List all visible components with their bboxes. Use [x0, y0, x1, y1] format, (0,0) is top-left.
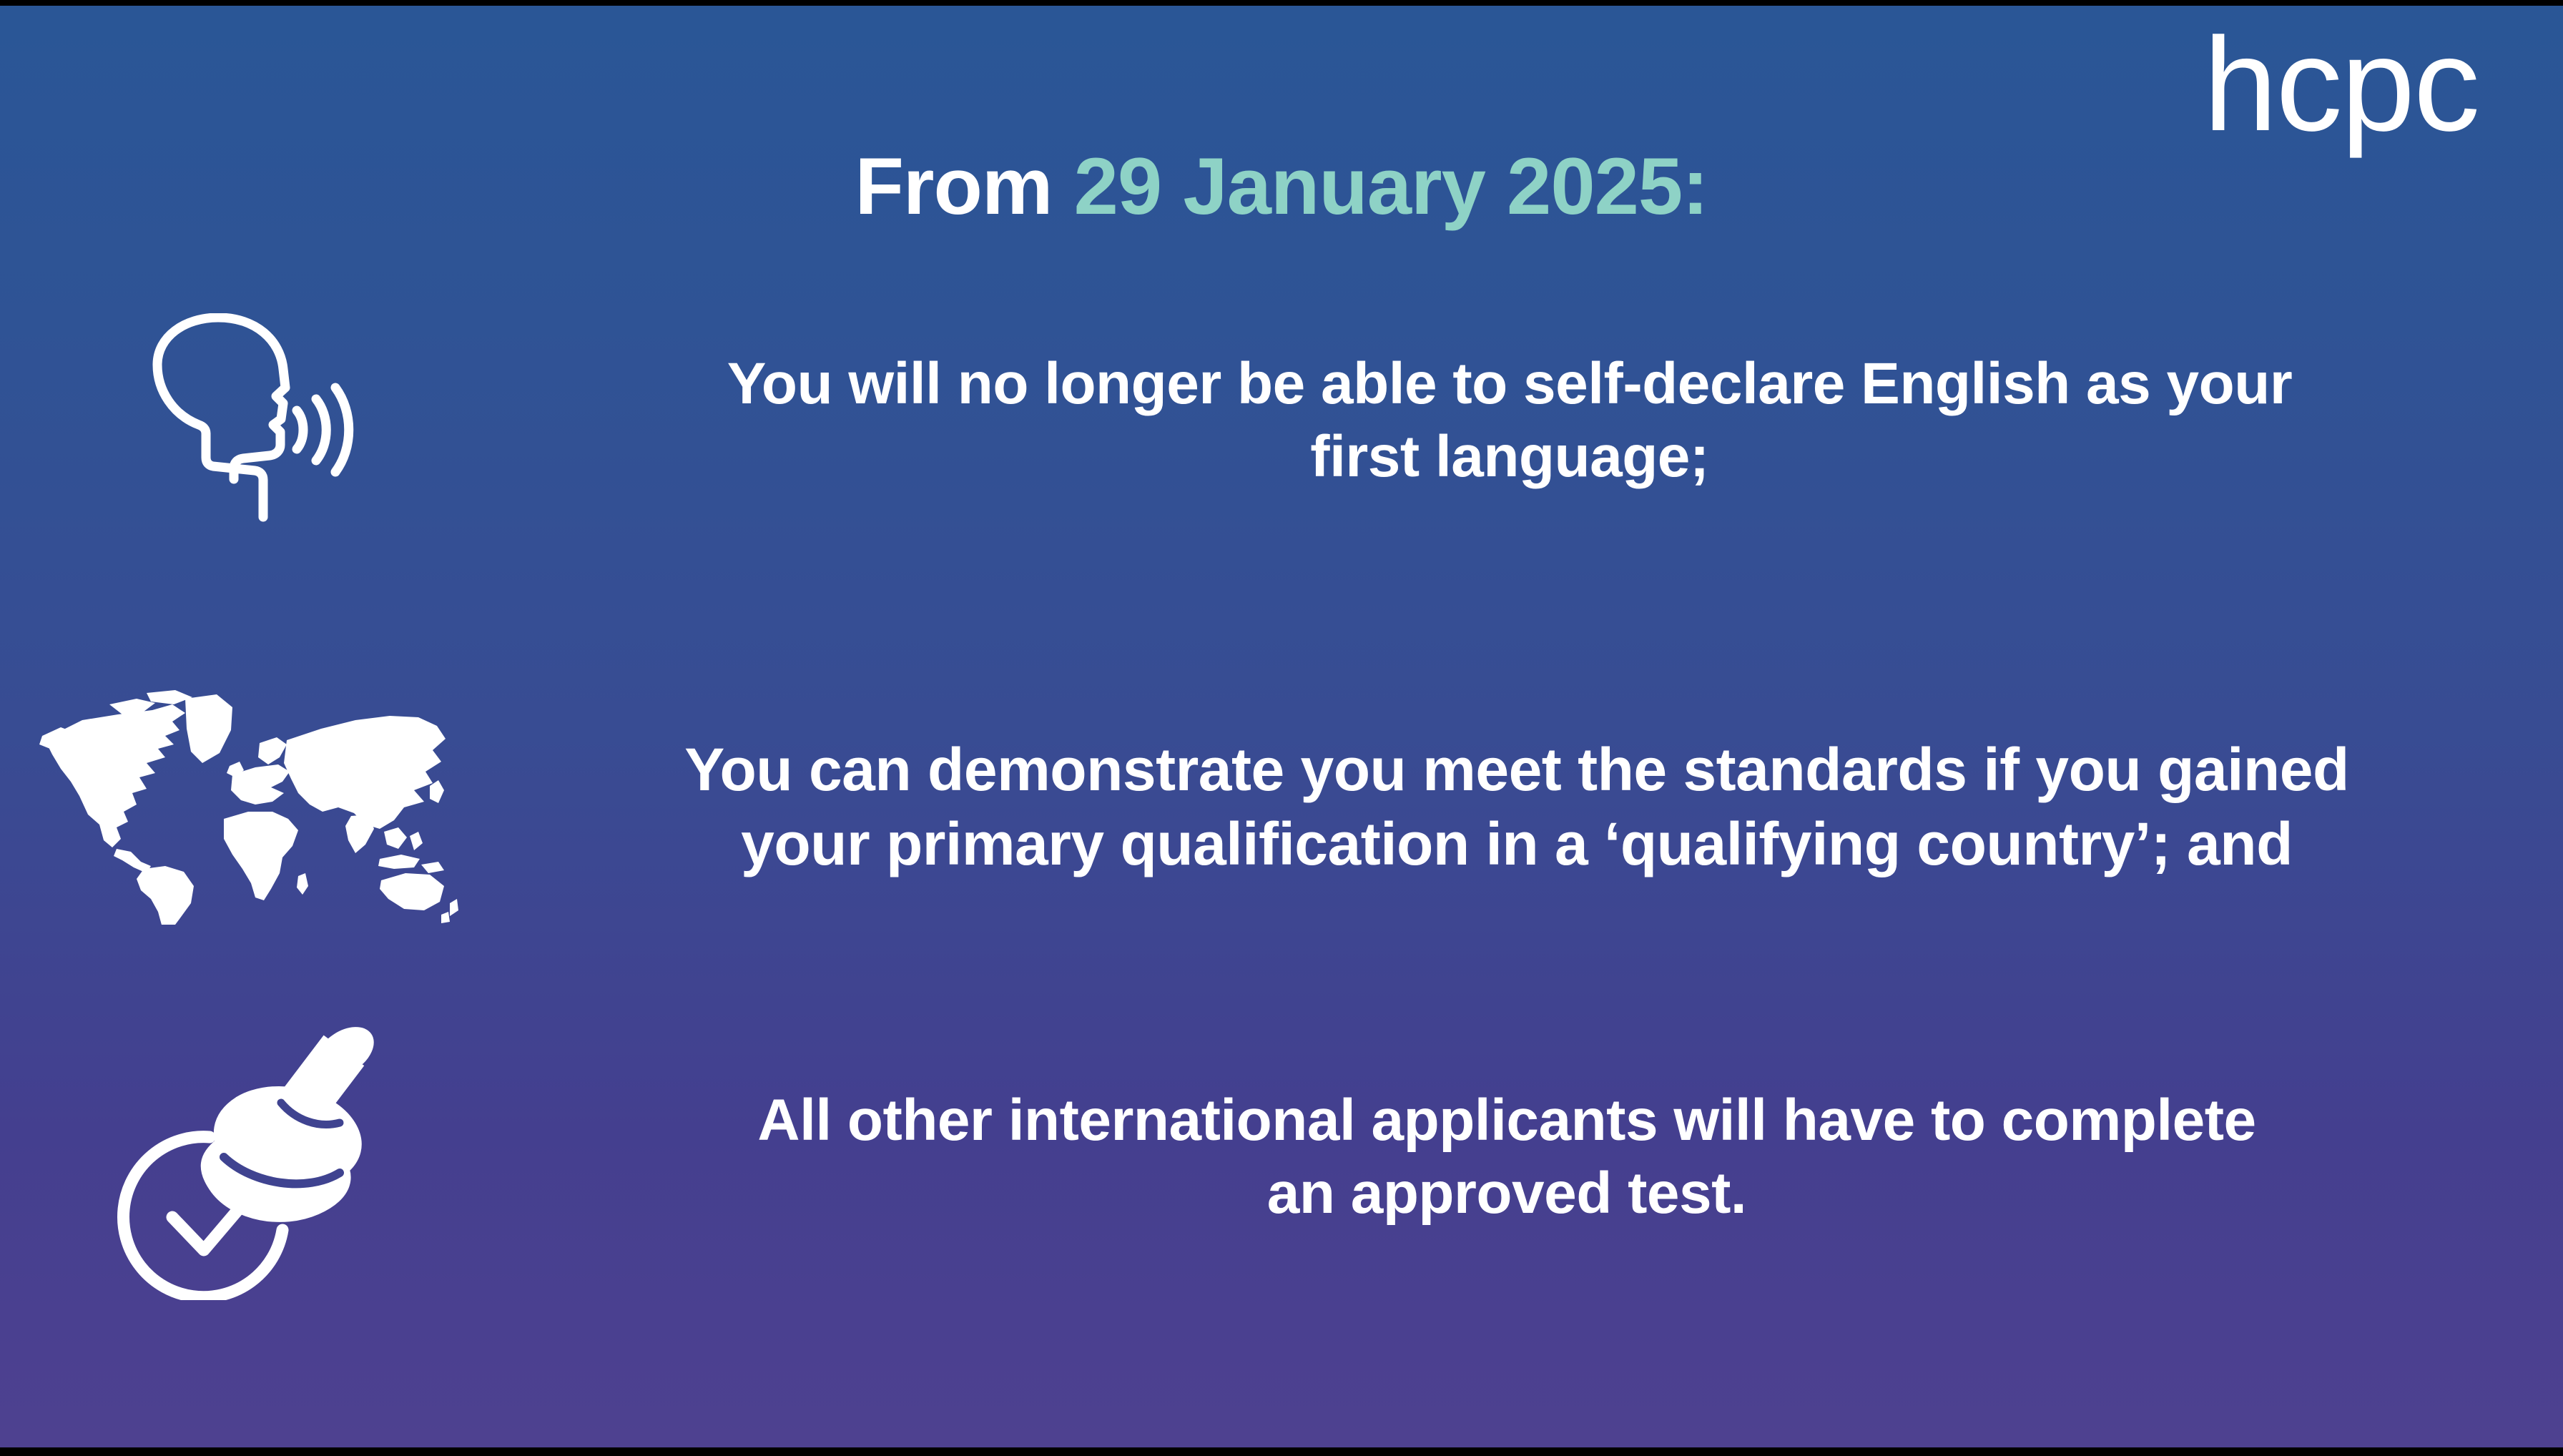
bullet-icon-slot — [0, 292, 493, 549]
bullet-text-line: your primary qualification in a ‘qualify… — [493, 807, 2540, 881]
speaking-head-icon — [129, 313, 365, 528]
letterbox-bottom — [0, 1447, 2563, 1456]
bullet-text-line: first language; — [493, 420, 2526, 493]
bullet-icon-slot — [0, 1000, 493, 1314]
title-lead-text: From — [855, 142, 1074, 231]
bullet-row: All other international applicants will … — [0, 1000, 2563, 1314]
title-date-text: 29 January 2025: — [1074, 142, 1708, 231]
page-title: From 29 January 2025: — [0, 140, 2563, 232]
bullet-row: You can demonstrate you meet the standar… — [0, 664, 2563, 950]
bullet-text: You can demonstrate you meet the standar… — [493, 732, 2563, 881]
hcpc-logo: hcpc — [2178, 24, 2479, 146]
hcpc-wordmark-icon: hcpc — [2178, 24, 2479, 146]
presentation-slide: hcpc From 29 January 2025: You will no l… — [0, 0, 2563, 1456]
approval-stamp-icon — [104, 1014, 390, 1300]
bullet-text: All other international applicants will … — [493, 1084, 2563, 1229]
bullet-text-line: All other international applicants will … — [493, 1084, 2520, 1157]
bullet-text-line: You will no longer be able to self-decla… — [493, 348, 2526, 420]
letterbox-top — [0, 0, 2563, 6]
bullet-row: You will no longer be able to self-decla… — [0, 292, 2563, 549]
bullet-icon-slot — [0, 664, 493, 950]
bullet-text-line: You can demonstrate you meet the standar… — [493, 732, 2540, 807]
bullet-text-line: an approved test. — [493, 1157, 2520, 1230]
bullet-text: You will no longer be able to self-decla… — [493, 348, 2563, 493]
slide-canvas: hcpc From 29 January 2025: You will no l… — [0, 6, 2563, 1447]
world-map-icon — [32, 689, 461, 925]
